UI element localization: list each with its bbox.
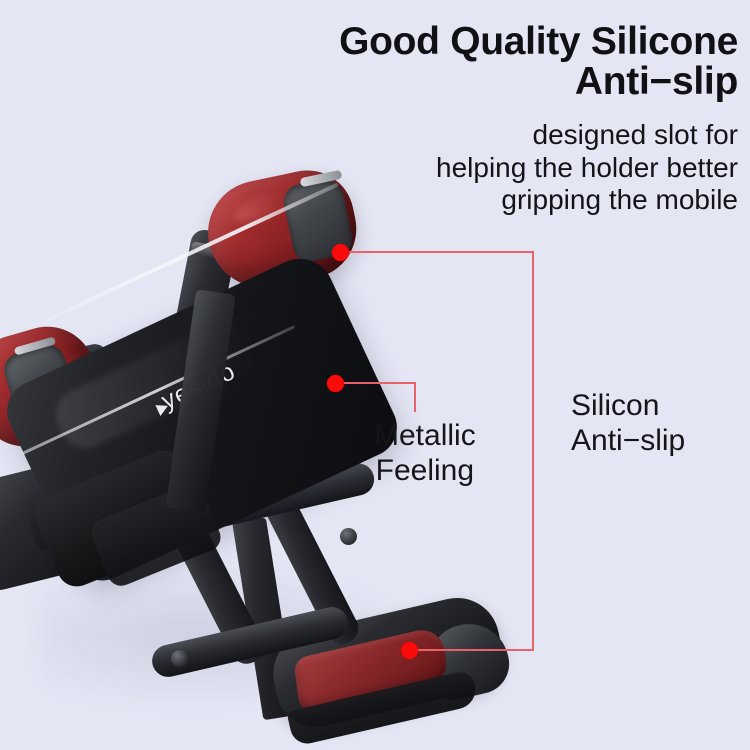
callout-marker-metallic bbox=[327, 375, 344, 392]
product-pivot-screw-lower bbox=[171, 650, 188, 667]
callout-label-silicon-anti-slip: Silicon Anti−slip bbox=[571, 388, 685, 458]
callout-leader-metallic-horizontal bbox=[335, 382, 415, 384]
page-title: Good Quality Silicone Anti−slip bbox=[178, 22, 738, 102]
callout-leader-right-vertical bbox=[532, 251, 534, 651]
callout-leader-top-horizontal bbox=[340, 251, 534, 253]
callout-marker-top-grip bbox=[332, 244, 349, 261]
callout-marker-bottom-pad bbox=[401, 642, 418, 659]
callout-label-metallic-feeling: Metallic Feeling bbox=[374, 418, 476, 488]
callout-silicon-line-2: Anti−slip bbox=[571, 423, 685, 458]
text-block: Good Quality Silicone Anti−slip designed… bbox=[178, 22, 738, 217]
callout-metallic-line-1: Metallic bbox=[374, 418, 476, 453]
headline-line-2: Anti−slip bbox=[178, 62, 738, 102]
callout-leader-metallic-vertical bbox=[414, 382, 416, 412]
product-pivot-screw-upper bbox=[340, 528, 357, 545]
callout-silicon-line-1: Silicon bbox=[571, 388, 685, 423]
product-banner: yesido Good Quality Silicone Anti−slip d… bbox=[0, 0, 750, 750]
headline-line-1: Good Quality Silicone bbox=[339, 20, 738, 63]
callout-leader-bottom-horizontal bbox=[410, 649, 534, 651]
subhead-line-1: designed slot for bbox=[178, 119, 738, 151]
callout-metallic-line-2: Feeling bbox=[374, 453, 476, 488]
subhead-line-3: gripping the mobile bbox=[178, 184, 738, 216]
page-subtitle: designed slot for helping the holder bet… bbox=[178, 119, 738, 216]
subhead-line-2: helping the holder better bbox=[178, 152, 738, 184]
